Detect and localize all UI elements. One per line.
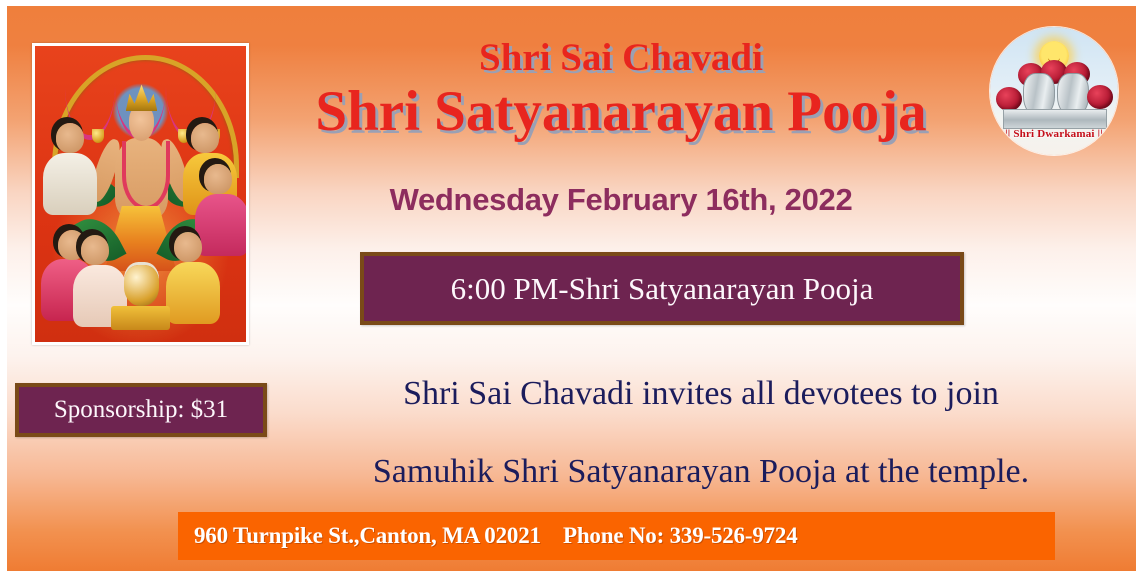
devotee-figure <box>191 123 219 153</box>
flyer-canvas: || Shri Dwarkamai || Shri Sai Chavadi Sh… <box>0 0 1142 583</box>
logo-plinth <box>1003 109 1107 129</box>
offering-tray <box>111 306 170 330</box>
hanging-lamp-icon <box>92 129 104 143</box>
devotee-figure <box>204 164 232 194</box>
devotee-figure <box>166 262 220 324</box>
devotee-figure <box>81 235 109 265</box>
devotee-figure <box>56 123 84 153</box>
logo-caption: || Shri Dwarkamai || <box>990 128 1118 140</box>
invitation-line-1: Shri Sai Chavadi invites all devotees to… <box>268 355 1134 433</box>
footer-contact: 960 Turnpike St.,Canton, MA 02021 Phone … <box>194 523 798 549</box>
rose-icon <box>996 87 1022 111</box>
sponsorship-text: Sponsorship: $31 <box>54 396 228 424</box>
deity-artwork-image <box>35 46 246 342</box>
sponsorship-box: Sponsorship: $31 <box>15 383 267 437</box>
temple-logo: || Shri Dwarkamai || <box>990 27 1118 155</box>
invitation-text: Shri Sai Chavadi invites all devotees to… <box>268 355 1134 511</box>
footer-bar: 960 Turnpike St.,Canton, MA 02021 Phone … <box>178 512 1055 560</box>
schedule-text: 6:00 PM-Shri Satyanarayan Pooja <box>451 271 874 307</box>
kalash-pot-icon <box>124 265 160 306</box>
event-date: Wednesday February 16th, 2022 <box>262 182 980 218</box>
devotee-figure <box>174 232 202 262</box>
devotee-figure <box>195 194 249 256</box>
invitation-line-2: Samuhik Shri Satyanarayan Pooja at the t… <box>268 433 1134 511</box>
devotee-figure <box>43 153 97 215</box>
rose-icon <box>1087 85 1113 109</box>
deity-artwork <box>32 43 249 345</box>
organization-name: Shri Sai Chavadi <box>262 36 980 80</box>
flower-garland <box>122 141 170 210</box>
event-title: Shri Satyanarayan Pooja <box>262 80 980 144</box>
title-block: Shri Sai Chavadi Shri Satyanarayan Pooja <box>262 36 980 144</box>
schedule-box: 6:00 PM-Shri Satyanarayan Pooja <box>360 252 964 325</box>
